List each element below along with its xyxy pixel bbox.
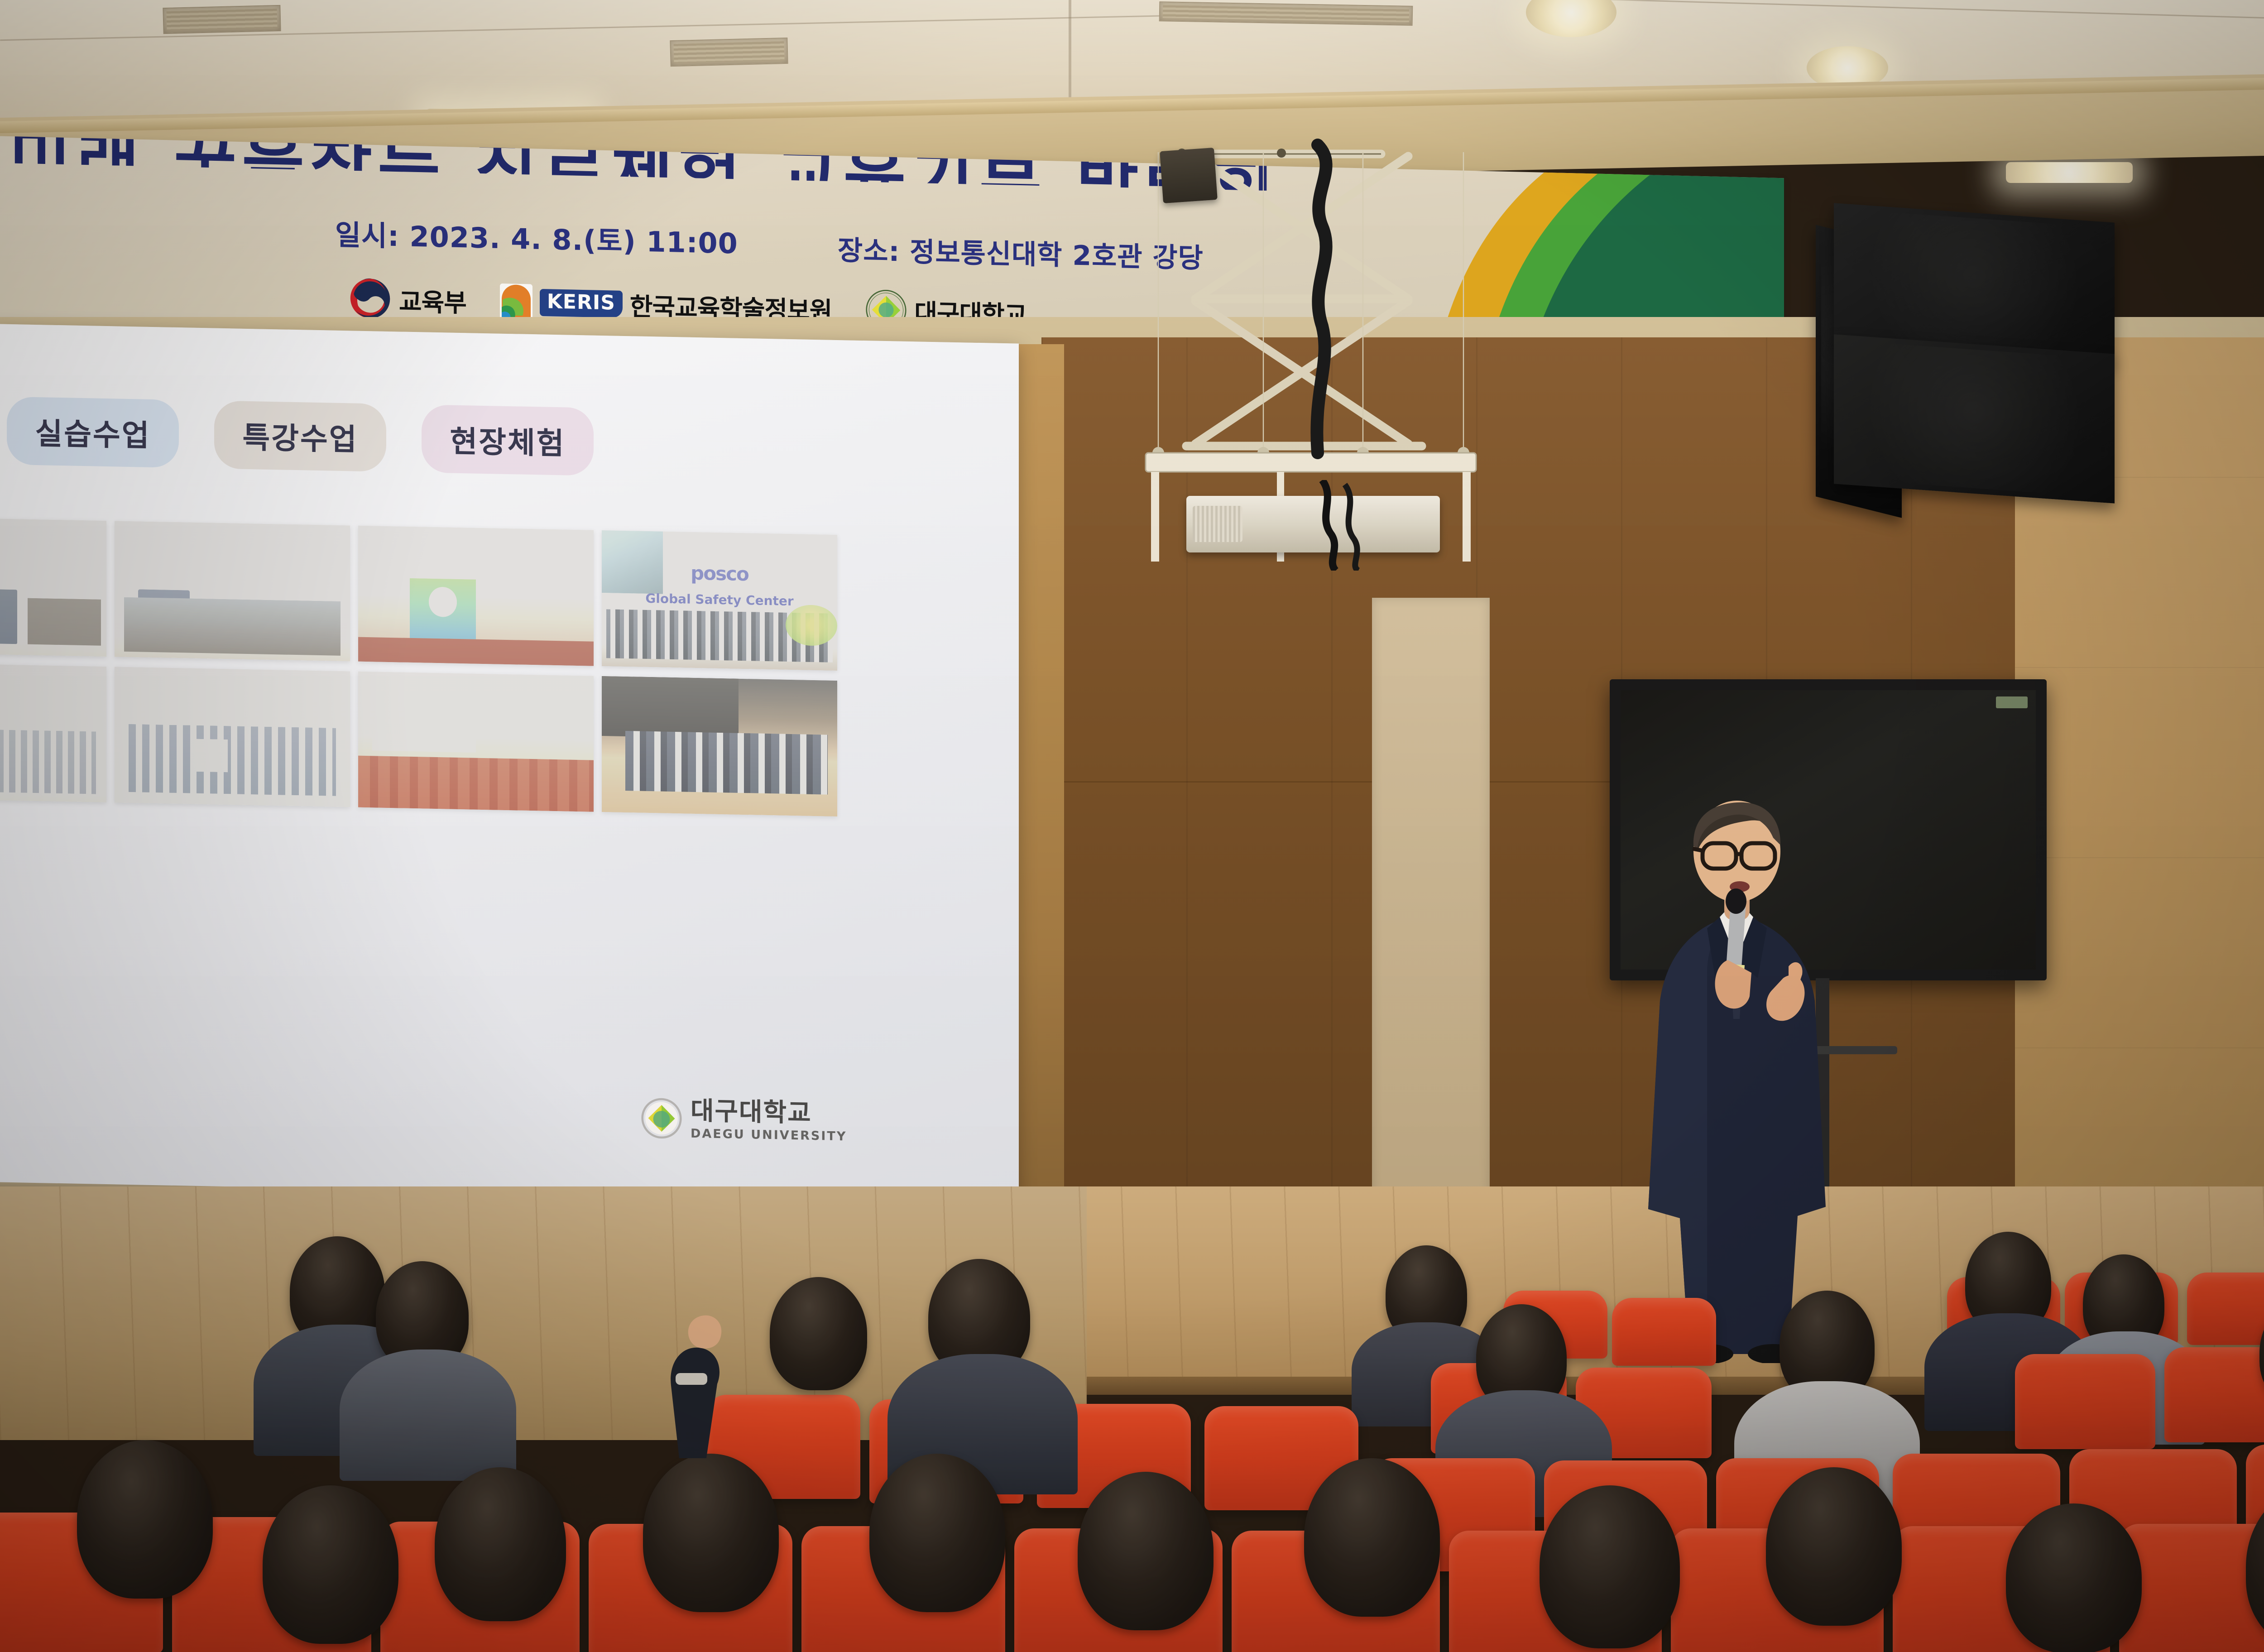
ceiling-downlight-1 [1526,0,1616,37]
banner-date: 일시: 2023. 4. 8.(토) 11:00 [335,212,738,261]
slide-photo-0 [0,518,106,657]
audience-head [1304,1458,1440,1617]
audience-head [1766,1467,1902,1626]
slide-logo-en: DAEGU UNIVERSITY [691,1127,847,1143]
slide-chip-2: 현장체험 [422,404,594,475]
audience-head [2006,1503,2142,1652]
projection-screen: 실습수업 특강수업 현장체험 [0,324,1019,1218]
audience-shoulders [340,1349,516,1481]
ceiling-speaker-icon [1160,148,1218,203]
slide-photo-7 [602,676,837,816]
keris-icon [500,283,532,320]
seat [2015,1354,2155,1449]
seat [2187,1273,2264,1345]
taegeuk-icon [349,277,392,321]
ceiling-vent-left [163,5,281,34]
projected-slide: 실습수업 특강수업 현장체험 [0,324,1019,1218]
audience-head [869,1454,1005,1612]
seat [2164,1347,2264,1442]
slide-footer-logo: 대구대학교 DAEGU UNIVERSITY [641,1097,847,1143]
ceiling-vent-mid [670,38,788,67]
slide-photo-2 [358,526,594,666]
audience-area: 대구대학교 DAEGU UNIVERSITY 강신재 관장 [0,1141,2264,1652]
moe-label: 교육부 [399,281,466,319]
slide-chip-1: 특강수업 [214,401,386,472]
display-badge-icon [1996,696,2028,708]
pa-speaker-bottom [1834,334,2115,503]
ceiling-vent-far-right [1159,1,1413,26]
slide-photo-posco: posco Global Safety Center [602,530,837,671]
slide-logo-kr: 대구대학교 [691,1098,847,1127]
slide-photo-6 [358,672,594,812]
audience-head [1078,1472,1214,1630]
audience-head [770,1277,867,1390]
audience-head [1540,1485,1680,1648]
stage-side-door [1372,598,1490,1232]
slide-chip-0: 실습수업 [7,397,179,468]
slide-chip-row: 실습수업 특강수업 현장체험 [7,397,594,476]
ceiling-downlight-4 [2006,162,2133,183]
slide-photo-1 [115,521,350,661]
audience-head [435,1467,566,1621]
slide-photo-grid: posco Global Safety Center [0,518,1003,820]
lecture-hall-photo: 미래 꿈을찾는 진로체험 교육기부 박람회 일시: 2023. 4. 8.(토)… [0,0,2264,1652]
seat [1612,1298,1716,1366]
audience-head [77,1440,213,1599]
projector-cables [1295,480,1404,571]
slide-photo-4 [0,664,106,802]
audience-head [643,1454,779,1612]
daegu-university-seal-icon-slide [641,1097,682,1140]
keris-badge: KERIS [540,288,623,317]
raised-arm [652,1304,738,1458]
slide-photo-5 [115,667,350,807]
audience-head [263,1485,398,1644]
moe-logo: 교육부 [349,277,466,322]
projector-lens-icon [1193,506,1242,542]
